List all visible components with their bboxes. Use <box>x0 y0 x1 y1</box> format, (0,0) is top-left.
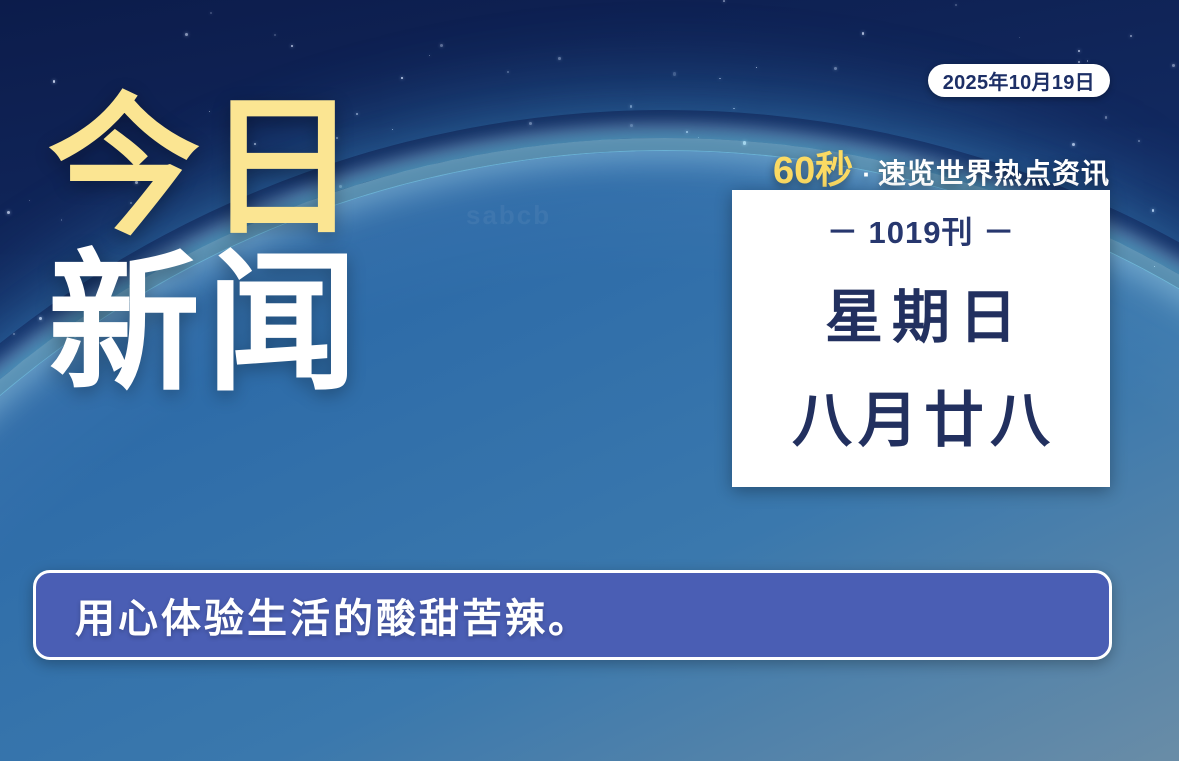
tagline-duration: 60秒 <box>773 139 853 194</box>
quote-banner: 用心体验生活的酸甜苦辣。 <box>33 570 1112 660</box>
quote-text: 用心体验生活的酸甜苦辣。 <box>75 586 591 644</box>
lunar-date-label: 八月廿八 <box>786 372 1056 459</box>
masthead-line-two: 新闻 <box>48 252 364 398</box>
tagline-description: 速览世界热点资讯 <box>878 152 1110 192</box>
date-badge: 2025年10月19日 <box>928 64 1110 97</box>
masthead-title: 今日 新闻 <box>48 96 364 398</box>
masthead-line-one: 今日 <box>48 96 364 242</box>
weekday-label: 星期日 <box>816 270 1026 354</box>
news-poster: sabcb 今日 新闻 2025年10月19日 60秒 · 速览世界热点资讯 －… <box>0 0 1179 761</box>
issue-number: － 1019刊 － <box>827 207 1015 252</box>
tagline-separator-dot: · <box>862 159 871 190</box>
tagline: 60秒 · 速览世界热点资讯 <box>773 139 1110 194</box>
issue-card: － 1019刊 － 星期日 八月廿八 <box>732 190 1110 487</box>
background-watermark: sabcb <box>466 200 551 231</box>
